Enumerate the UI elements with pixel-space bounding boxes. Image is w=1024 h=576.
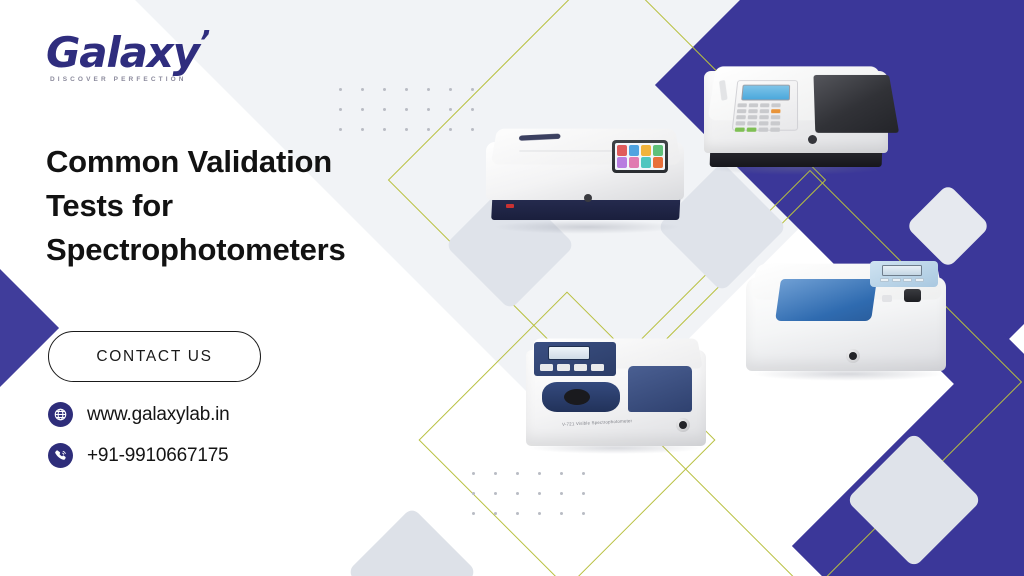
- touchscreen-display: [612, 140, 668, 173]
- sample-compartment-lid: [813, 75, 899, 133]
- app-icon: [641, 145, 651, 156]
- panel-button: [915, 278, 924, 282]
- device-shadow: [494, 220, 680, 234]
- panel-button: [574, 364, 587, 371]
- sample-holder: [564, 389, 590, 405]
- power-indicator: [506, 204, 514, 208]
- contact-row-website[interactable]: www.galaxylab.in: [48, 402, 230, 427]
- contact-us-button-label: CONTACT US: [96, 348, 212, 366]
- keypad: [735, 103, 795, 134]
- panel-button: [557, 364, 570, 371]
- phone-text: +91-9910667175: [87, 445, 228, 467]
- keypad: [880, 278, 924, 282]
- product-image-blue-lid-spectrophotometer: [742, 255, 954, 387]
- dot-grid-bottom: [472, 472, 604, 532]
- sample-compartment-lid: [628, 366, 692, 412]
- device-dial: [904, 289, 921, 302]
- app-icon: [653, 157, 663, 168]
- app-icon: [629, 145, 639, 156]
- website-text: www.galaxylab.in: [87, 404, 230, 426]
- app-icon: [653, 145, 663, 156]
- brand-logo[interactable]: Galaxy’ Discover Perfection: [46, 28, 276, 83]
- lcd-display: [741, 85, 790, 101]
- logo-wordmark-text: Galaxy: [46, 28, 199, 77]
- touchscreen-app-grid: [615, 143, 665, 170]
- device-handle: [719, 80, 728, 101]
- device-knob: [846, 349, 860, 363]
- app-icon: [617, 157, 627, 168]
- lcd-display: [548, 346, 590, 360]
- device-port: [882, 295, 892, 302]
- device-knob: [676, 418, 690, 432]
- device-knob: [808, 135, 817, 144]
- panel-button: [880, 278, 889, 282]
- panel-button: [892, 278, 901, 282]
- content-column: Galaxy’ Discover Perfection Common Valid…: [46, 0, 466, 576]
- sample-well: [542, 382, 620, 412]
- page-title: Common Validation Tests for Spectrophoto…: [46, 140, 416, 272]
- contact-us-button[interactable]: CONTACT US: [48, 331, 261, 382]
- logo-apostrophe: ’: [199, 25, 209, 60]
- gray-diamond-bottom-right: [846, 432, 982, 568]
- phone-icon: [48, 443, 73, 468]
- panel-button: [591, 364, 604, 371]
- contact-list: www.galaxylab.in +91-9910667175: [48, 402, 230, 484]
- sample-compartment-lid: [775, 279, 877, 321]
- panel-button: [540, 364, 553, 371]
- panel-button: [903, 278, 912, 282]
- contact-row-phone[interactable]: +91-9910667175: [48, 443, 230, 468]
- app-icon: [617, 145, 627, 156]
- product-image-classic-uv-vis-spectrophotometer: [700, 57, 896, 185]
- app-icon: [629, 157, 639, 168]
- globe-icon: [48, 402, 73, 427]
- product-image-visible-spectrophotometer: V-721 Visible Spectrophotometer: [522, 332, 712, 460]
- banner-canvas: Galaxy’ Discover Perfection Common Valid…: [0, 0, 1024, 576]
- device-top-face: [708, 66, 887, 120]
- product-image-touchscreen-spectrophotometer: [484, 124, 692, 242]
- lcd-display: [882, 265, 922, 276]
- button-row: [540, 364, 604, 371]
- device-vent: [519, 134, 561, 141]
- app-icon: [641, 157, 651, 168]
- logo-wordmark: Galaxy’: [46, 28, 276, 74]
- device-knob: [584, 194, 592, 202]
- logo-tagline: Discover Perfection: [46, 76, 276, 83]
